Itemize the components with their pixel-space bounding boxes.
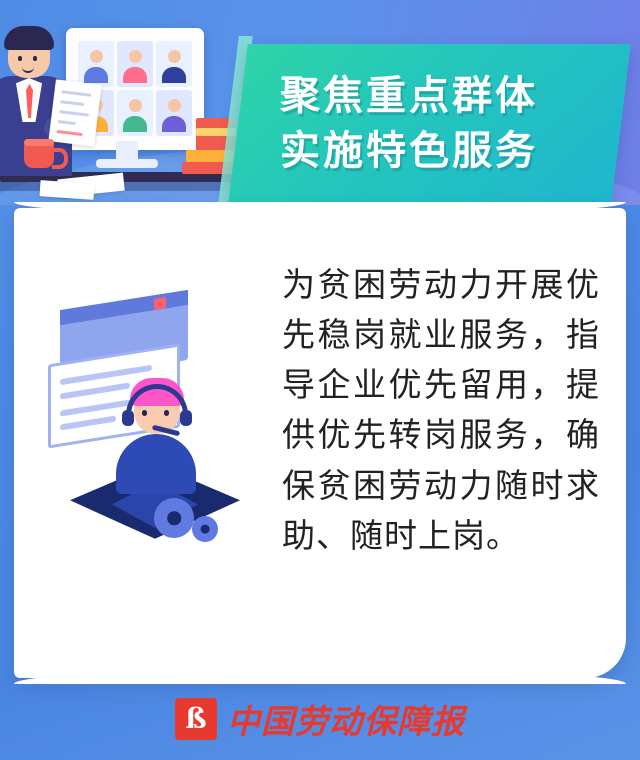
banner-title-line-1: 聚焦重点群体: [280, 69, 621, 124]
mug-rim: [24, 139, 54, 146]
participant-tile: [78, 41, 114, 87]
agent-body: [116, 434, 196, 494]
logo-wordmark: 中国劳动保障报: [227, 695, 465, 743]
headset-earpad-right: [180, 410, 192, 426]
title-banner: 聚焦重点群体 实施特色服务: [228, 44, 631, 204]
monitor-stand: [116, 141, 138, 161]
worker-eye-right: [33, 56, 37, 61]
footer-logo: ß 中国劳动保障报: [0, 678, 640, 760]
call-center-illustration: [42, 268, 257, 578]
monitor-base: [96, 159, 158, 168]
gear-icon: [154, 498, 194, 538]
logo-mark-icon: ß: [175, 698, 217, 740]
mug-handle: [52, 148, 68, 169]
banner-title-line-2: 实施特色服务: [280, 124, 621, 179]
agent-eye-left: [142, 410, 147, 416]
browser-close-icon: [154, 297, 166, 310]
gear-icon-small: [192, 516, 218, 542]
participant-tile: [117, 90, 153, 136]
worker-eye-left: [18, 56, 22, 61]
participant-tile: [117, 41, 153, 87]
worker-hair: [4, 26, 54, 50]
agent-eye-right: [164, 410, 169, 416]
headset-earpad-left: [122, 410, 134, 426]
logo-letter: ß: [185, 705, 206, 733]
document-sheet-icon: [48, 79, 101, 146]
body-paragraph: 为贫困劳动力开展优先稳岗就业服务，指导企业优先留用，提供优先转岗服务，确保贫困劳…: [282, 260, 600, 561]
content-card: 为贫困劳动力开展优先稳岗就业服务，指导企业优先留用，提供优先转岗服务，确保贫困劳…: [14, 208, 626, 678]
poster: 聚焦重点群体 实施特色服务: [0, 0, 640, 760]
participant-tile: [156, 41, 192, 87]
participant-tile: [156, 90, 192, 136]
